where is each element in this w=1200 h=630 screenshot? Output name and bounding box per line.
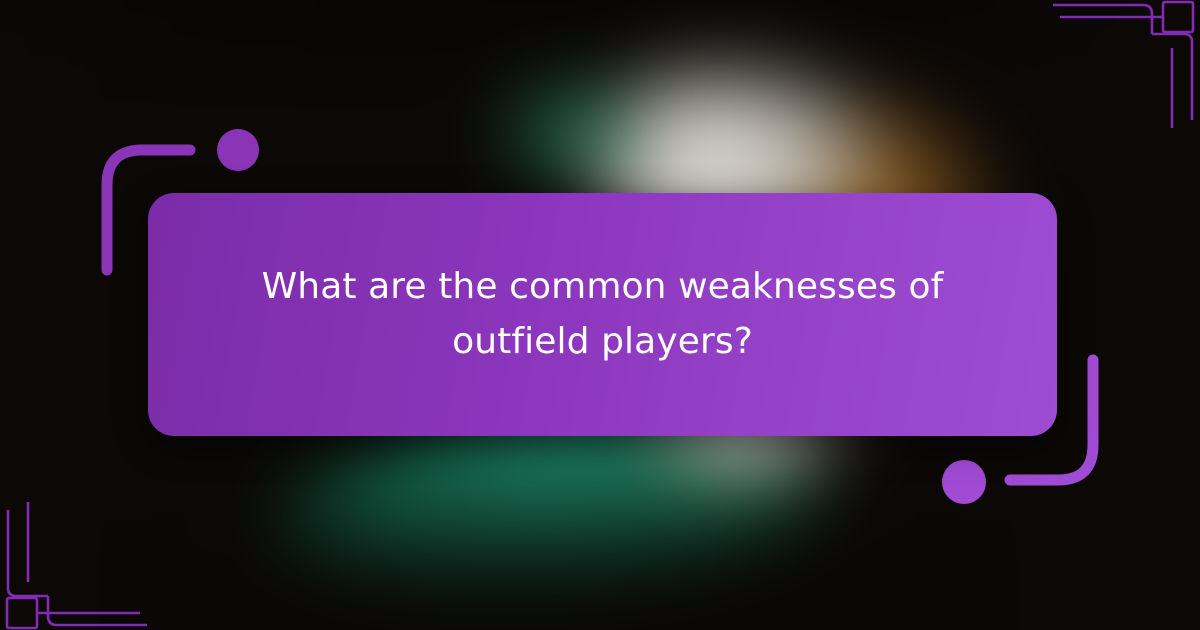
social-card-canvas: What are the common weaknesses of outfie… [0, 0, 1200, 630]
question-text: What are the common weaknesses of outfie… [253, 260, 953, 369]
question-card: What are the common weaknesses of outfie… [148, 193, 1057, 436]
